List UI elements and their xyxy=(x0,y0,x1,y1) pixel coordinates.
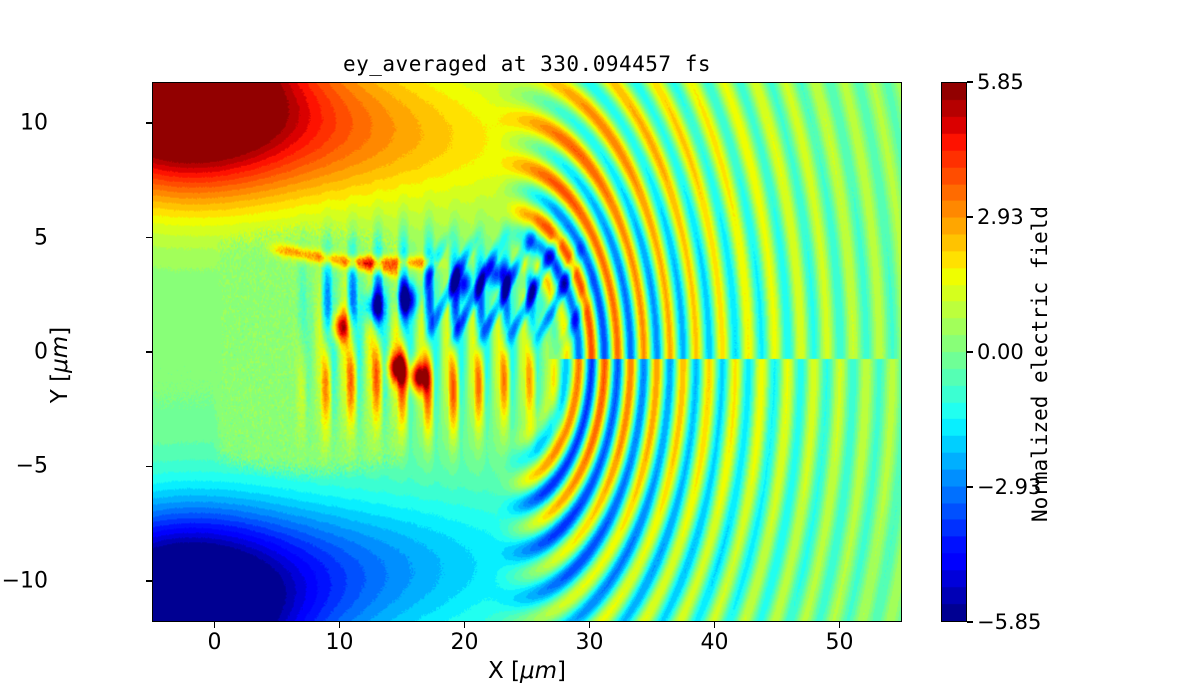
plot-title: ey_averaged at 330.094457 fs xyxy=(152,52,902,76)
x-tick-mark xyxy=(714,622,716,628)
y-tick-label: 5 xyxy=(34,225,48,250)
field-heatmap-image xyxy=(153,83,901,621)
x-tick-mark xyxy=(839,622,841,628)
colorbar-tick-label: 5.85 xyxy=(977,70,1024,94)
y-tick-label: 0 xyxy=(34,340,48,365)
x-tick-label: 40 xyxy=(701,630,729,655)
y-tick-label: −5 xyxy=(16,454,48,479)
y-tick-mark xyxy=(146,351,152,353)
colorbar-tick-mark xyxy=(967,621,973,623)
colorbar-gradient xyxy=(942,83,966,621)
x-tick-label: 20 xyxy=(451,630,479,655)
y-tick-mark xyxy=(146,466,152,468)
x-tick-label: 0 xyxy=(208,630,222,655)
figure-canvas: ey_averaged at 330.094457 fs 01020304050… xyxy=(0,0,1200,700)
colorbar-tick-mark xyxy=(967,486,973,488)
colorbar xyxy=(941,82,967,622)
colorbar-tick-mark xyxy=(967,216,973,218)
y-tick-label: 10 xyxy=(20,111,48,136)
x-tick-label: 50 xyxy=(826,630,854,655)
x-tick-label: 10 xyxy=(326,630,354,655)
colorbar-label: Normalized electric field xyxy=(1028,94,1052,634)
x-axis-label-suffix: ] xyxy=(557,658,566,684)
y-tick-mark xyxy=(146,580,152,582)
y-tick-mark xyxy=(146,122,152,124)
x-axis-label-prefix: X [ xyxy=(488,658,520,684)
x-tick-mark xyxy=(464,622,466,628)
x-tick-label: 30 xyxy=(576,630,604,655)
y-tick-mark xyxy=(146,237,152,239)
y-axis-label-suffix: ] xyxy=(47,327,73,336)
x-tick-mark xyxy=(589,622,591,628)
x-axis-label: X [μm] xyxy=(152,658,902,684)
y-tick-label: −10 xyxy=(2,568,48,593)
y-axis-label: Y [μm] xyxy=(47,245,73,485)
y-axis-label-unit: μm xyxy=(47,336,73,373)
colorbar-tick-mark xyxy=(967,81,973,83)
x-tick-mark xyxy=(339,622,341,628)
x-tick-mark xyxy=(214,622,216,628)
heatmap-axes xyxy=(152,82,902,622)
colorbar-tick-label: 0.00 xyxy=(977,340,1024,364)
y-axis-label-prefix: Y [ xyxy=(47,373,73,403)
colorbar-tick-label: 2.93 xyxy=(977,205,1024,229)
colorbar-tick-mark xyxy=(967,351,973,353)
x-axis-label-unit: μm xyxy=(520,658,557,684)
